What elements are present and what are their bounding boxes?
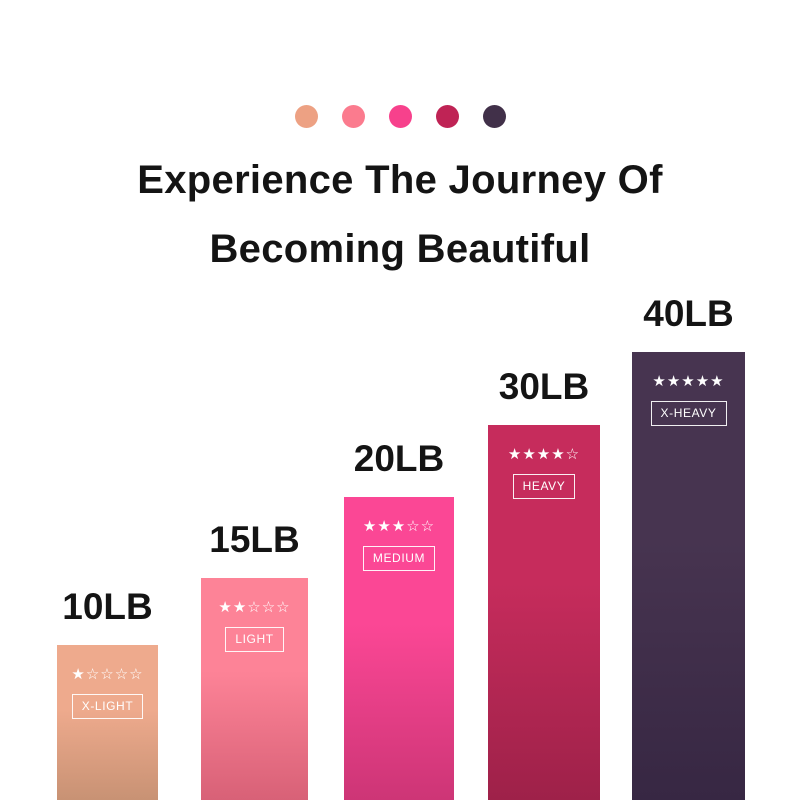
bar-rect[interactable]: ★★☆☆☆LIGHT <box>201 578 308 800</box>
star-rating: ★☆☆☆☆ <box>71 667 143 682</box>
bar-rect[interactable]: ★★★★☆HEAVY <box>488 425 600 800</box>
bar-value-label: 30LB <box>499 368 589 405</box>
product-infographic: Experience The Journey Of Becoming Beaut… <box>0 0 800 800</box>
bar-cap: ★★★★☆HEAVY <box>488 425 600 499</box>
bar-cap: ★★★★★X-HEAVY <box>632 352 745 426</box>
resistance-bar-chart: 10LB★☆☆☆☆X-LIGHT15LB★★☆☆☆LIGHT20LB★★★☆☆M… <box>0 0 800 800</box>
level-badge-wrap: X-HEAVY <box>651 401 727 426</box>
level-badge: LIGHT <box>225 627 283 652</box>
level-badge: X-HEAVY <box>651 401 727 426</box>
star-rating: ★★★★☆ <box>508 447 580 462</box>
level-badge: HEAVY <box>513 474 576 499</box>
bar-group-heavy[interactable]: 30LB★★★★☆HEAVY <box>488 425 600 800</box>
bar-cap: ★★☆☆☆LIGHT <box>201 578 308 652</box>
level-badge: X-LIGHT <box>72 694 144 719</box>
bar-group-x-light[interactable]: 10LB★☆☆☆☆X-LIGHT <box>57 645 158 800</box>
bar-group-medium[interactable]: 20LB★★★☆☆MEDIUM <box>344 497 454 800</box>
bar-rect[interactable]: ★☆☆☆☆X-LIGHT <box>57 645 158 800</box>
level-badge: MEDIUM <box>363 546 435 571</box>
bar-cap: ★★★☆☆MEDIUM <box>344 497 454 571</box>
bar-rect[interactable]: ★★★★★X-HEAVY <box>632 352 745 800</box>
star-rating: ★★★☆☆ <box>363 519 435 534</box>
level-badge-wrap: HEAVY <box>513 474 576 499</box>
level-badge-wrap: LIGHT <box>225 627 283 652</box>
bar-group-light[interactable]: 15LB★★☆☆☆LIGHT <box>201 578 308 800</box>
bar-value-label: 15LB <box>209 521 299 558</box>
star-rating: ★★★★★ <box>652 374 724 389</box>
bar-rect[interactable]: ★★★☆☆MEDIUM <box>344 497 454 800</box>
level-badge-wrap: X-LIGHT <box>72 694 144 719</box>
bar-group-x-heavy[interactable]: 40LB★★★★★X-HEAVY <box>632 352 745 800</box>
bar-value-label: 10LB <box>62 588 152 625</box>
bar-cap: ★☆☆☆☆X-LIGHT <box>57 645 158 719</box>
level-badge-wrap: MEDIUM <box>363 546 435 571</box>
bar-value-label: 40LB <box>643 295 733 332</box>
star-rating: ★★☆☆☆ <box>218 600 290 615</box>
bar-value-label: 20LB <box>354 440 444 477</box>
